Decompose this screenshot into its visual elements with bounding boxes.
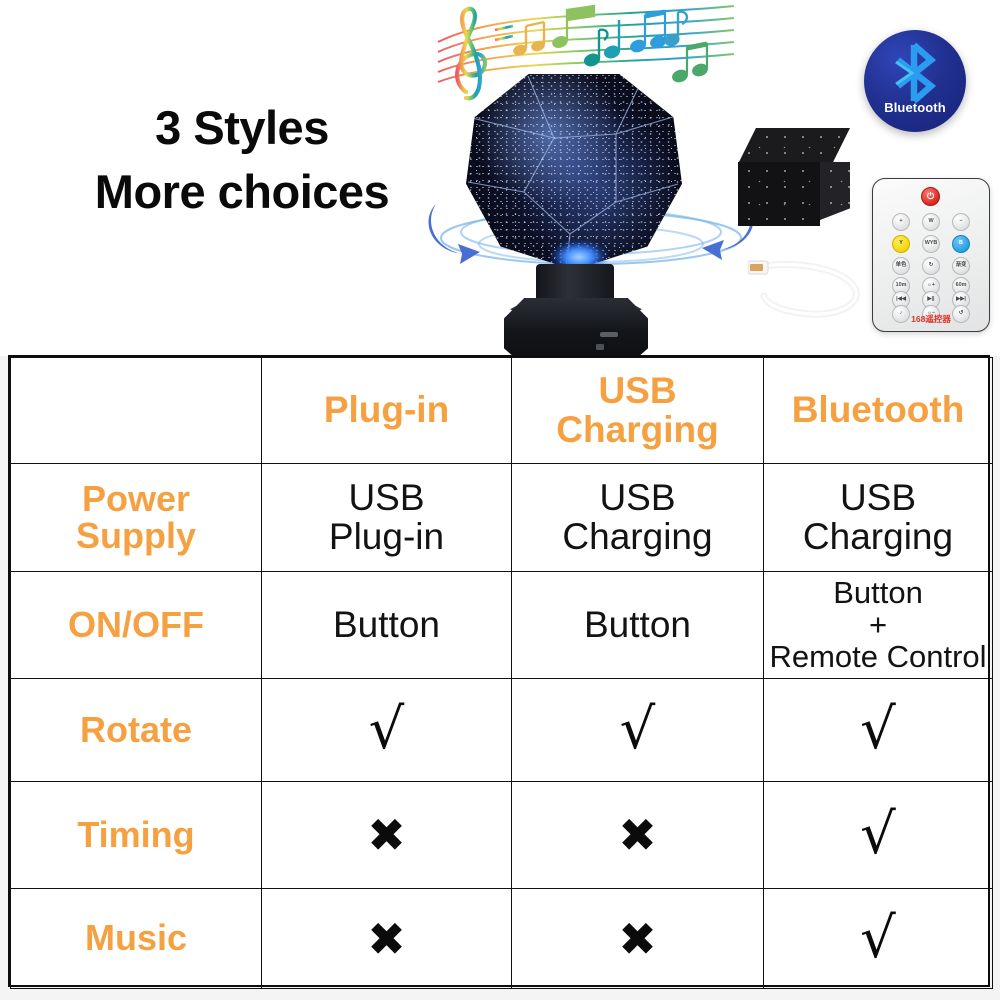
cell-text-line: Button — [516, 606, 759, 644]
row-label-timing: Timing — [11, 782, 262, 889]
remote-yellow-button[interactable]: Y — [892, 235, 910, 253]
table-row-rotate: Rotate √ √ √ — [11, 679, 993, 782]
gift-box-front — [738, 162, 820, 226]
power-button — [596, 344, 604, 350]
row-label-on-off-text: ON/OFF — [68, 604, 204, 645]
checkmark-icon: √ — [266, 702, 507, 758]
cell-timing-plug-in: ✖ — [262, 782, 512, 889]
cross-icon: ✖ — [516, 916, 759, 962]
cell-on-off-bluetooth: Button + Remote Control — [764, 572, 993, 679]
bluetooth-icon — [886, 42, 944, 104]
table-row-music: Music ✖ ✖ √ — [11, 889, 993, 989]
cell-on-off-usb-charging: Button — [512, 572, 764, 679]
table-row-on-off: ON/OFF Button Button Button + Remote Con… — [11, 572, 993, 679]
usb-cable — [748, 250, 878, 326]
usb-port — [600, 332, 618, 337]
cell-text-line: USB — [266, 479, 507, 517]
cross-icon: ✖ — [266, 812, 507, 858]
remote-model-label: 168遥控器 — [873, 313, 989, 325]
remote-single-color-button[interactable]: 单色 — [892, 257, 910, 275]
gift-box-side — [820, 162, 850, 220]
remote-minus-button[interactable]: − — [952, 213, 970, 231]
table-header-row: Plug-in USB Charging Bluetooth — [11, 358, 993, 464]
page-title: 3 Styles More choices — [42, 96, 442, 224]
cell-text-line: USB — [516, 479, 759, 517]
cell-rotate-usb-charging: √ — [512, 679, 764, 782]
cell-music-usb-charging: ✖ — [512, 889, 764, 989]
row-label-music: Music — [11, 889, 262, 989]
cell-text-line: Charging — [768, 518, 988, 556]
table-row-power-supply: Power Supply USB Plug-in USB Charg — [11, 464, 993, 572]
cell-text-line: + — [768, 609, 988, 641]
row-label-music-text: Music — [85, 917, 187, 958]
remote-rotate-button[interactable]: ↻ — [922, 257, 940, 275]
table-row-timing: Timing ✖ ✖ √ — [11, 782, 993, 889]
column-header-usb-charging-line1: USB — [516, 372, 759, 410]
cell-power-supply-plug-in: USB Plug-in — [262, 464, 512, 572]
cell-text-line: Charging — [516, 518, 759, 556]
column-header-plug-in-label: Plug-in — [324, 389, 449, 430]
headline-line-2: More choices — [42, 160, 442, 224]
cell-on-off-plug-in: Button — [262, 572, 512, 679]
remote-power-button[interactable]: ⏻ — [921, 187, 940, 206]
headline-line-1: 3 Styles — [42, 96, 442, 160]
row-label-power-supply: Power Supply — [11, 464, 262, 572]
row-label-timing-text: Timing — [77, 814, 194, 855]
row-label-rotate: Rotate — [11, 679, 262, 782]
bluetooth-badge: Bluetooth — [864, 30, 966, 132]
cell-text-line: USB — [768, 479, 988, 517]
hero-section: 3 Styles More choices — [0, 0, 1000, 356]
remote-gradient-button[interactable]: 渐变 — [952, 257, 970, 275]
cell-power-supply-usb-charging: USB Charging — [512, 464, 764, 572]
checkmark-icon: √ — [516, 702, 759, 758]
row-label-power-supply-line2: Supply — [15, 518, 257, 555]
cross-icon: ✖ — [516, 812, 759, 858]
cell-music-plug-in: ✖ — [262, 889, 512, 989]
cell-timing-bluetooth: √ — [764, 782, 993, 889]
column-header-usb-charging: USB Charging — [512, 358, 764, 464]
remote-wyb-button[interactable]: WYB — [922, 235, 940, 253]
star-projector-lamp — [448, 74, 700, 356]
constellation-pattern-side — [820, 162, 850, 220]
comparison-table: Plug-in USB Charging Bluetooth — [8, 355, 990, 987]
cell-text-line: Button — [266, 606, 507, 644]
remote-white-button[interactable]: W — [922, 213, 940, 231]
column-header-bluetooth: Bluetooth — [764, 358, 993, 464]
checkmark-icon: √ — [768, 807, 988, 863]
cell-text-line: Remote Control — [768, 641, 988, 673]
cross-icon: ✖ — [266, 916, 507, 962]
product-comparison-infographic: 3 Styles More choices — [0, 0, 1000, 1000]
lamp-base — [504, 298, 648, 356]
checkmark-icon: √ — [768, 911, 988, 967]
row-label-on-off: ON/OFF — [11, 572, 262, 679]
row-label-rotate-text: Rotate — [80, 709, 192, 750]
cell-music-bluetooth: √ — [764, 889, 993, 989]
cell-text-line: Button — [768, 577, 988, 609]
table-corner-cell — [11, 358, 262, 464]
cell-text-line: Plug-in — [266, 518, 507, 556]
column-header-plug-in: Plug-in — [262, 358, 512, 464]
cell-rotate-bluetooth: √ — [764, 679, 993, 782]
remote-blue-button[interactable]: B — [952, 235, 970, 253]
cell-timing-usb-charging: ✖ — [512, 782, 764, 889]
column-header-usb-charging-line2: Charging — [516, 411, 759, 449]
bluetooth-badge-label: Bluetooth — [864, 100, 966, 115]
row-label-power-supply-line1: Power — [15, 481, 257, 518]
remote-plus-button[interactable]: + — [892, 213, 910, 231]
remote-control: ⏻ + W − Y WYB B 单色 ↻ 渐变 10m ☼+ 60m |◀◀ ▶… — [872, 178, 990, 332]
cell-power-supply-bluetooth: USB Charging — [764, 464, 993, 572]
constellation-pattern-front — [738, 162, 820, 226]
gift-box-lid — [738, 128, 850, 164]
column-header-bluetooth-label: Bluetooth — [792, 389, 965, 430]
cell-rotate-plug-in: √ — [262, 679, 512, 782]
checkmark-icon: √ — [768, 702, 988, 758]
gift-box — [738, 128, 850, 228]
constellation-pattern-lid — [738, 128, 850, 164]
